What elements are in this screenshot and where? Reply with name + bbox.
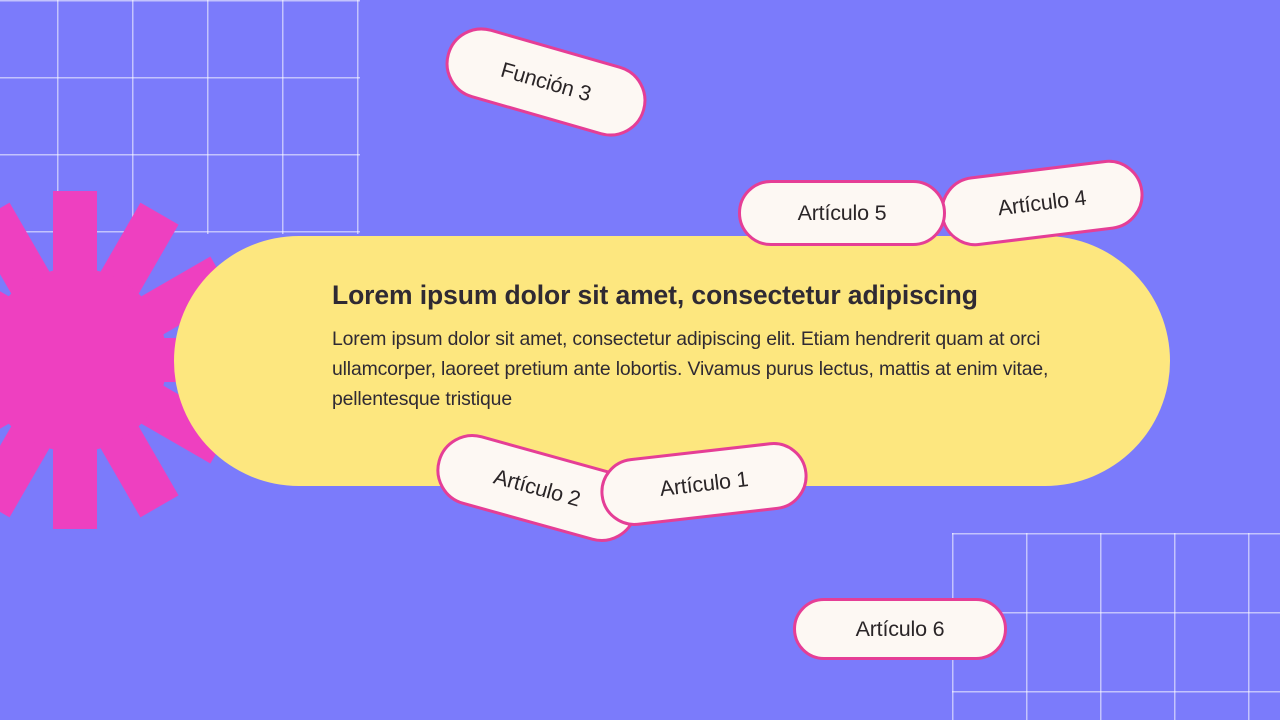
card-body-text: Lorem ipsum dolor sit amet, consectetur … bbox=[332, 324, 1122, 414]
slide-canvas: Lorem ipsum dolor sit amet, consectetur … bbox=[0, 0, 1280, 720]
pill-articulo-6[interactable]: Artículo 6 bbox=[793, 598, 1007, 660]
content-card: Lorem ipsum dolor sit amet, consectetur … bbox=[174, 236, 1170, 486]
pill-funcion-3[interactable]: Función 3 bbox=[437, 19, 655, 145]
card-title: Lorem ipsum dolor sit amet, consectetur … bbox=[332, 280, 1122, 310]
pill-articulo-4[interactable]: Artículo 4 bbox=[936, 156, 1147, 250]
pill-articulo-5[interactable]: Artículo 5 bbox=[738, 180, 946, 246]
card-text-block: Lorem ipsum dolor sit amet, consectetur … bbox=[332, 280, 1122, 414]
